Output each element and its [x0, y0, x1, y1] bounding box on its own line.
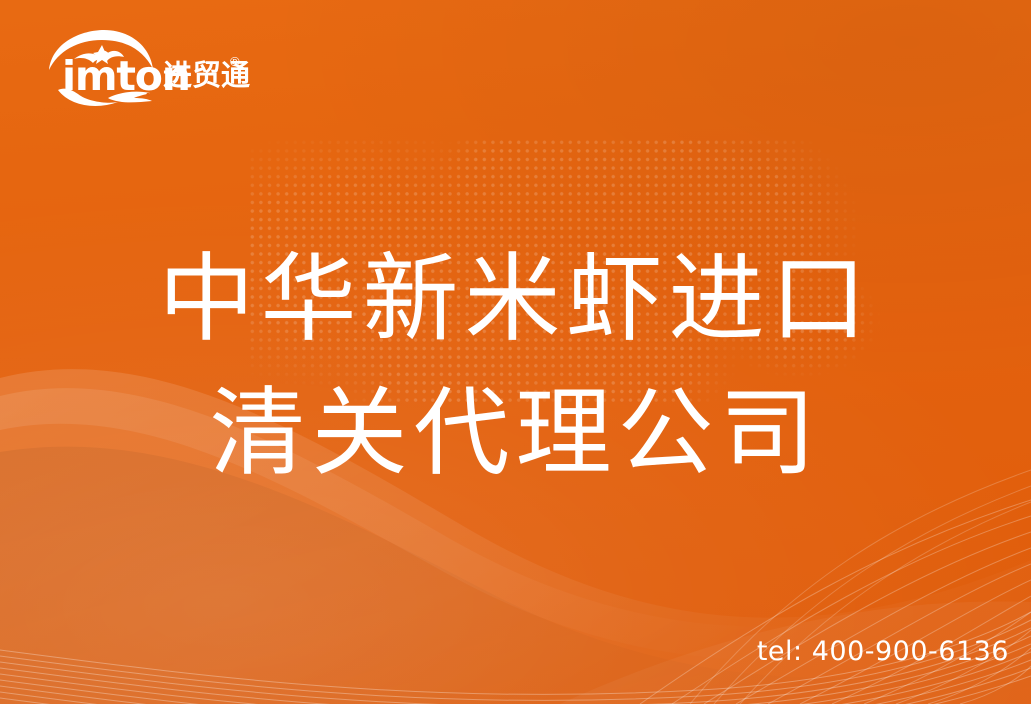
page-title: 中华新米虾进口 清关代理公司 [0, 232, 1031, 500]
headline-line-1: 中华新米虾进口 [0, 232, 1031, 366]
brand-logo[interactable]: imton 进贸通 ® [38, 28, 213, 106]
contact-telephone[interactable]: tel: 400-900-6136 [757, 638, 1009, 665]
registered-trademark-icon: ® [230, 55, 240, 68]
promo-banner: imton 进贸通 ® 中华新米虾进口 清关代理公司 tel: 400-900-… [0, 0, 1031, 704]
headline-line-2: 清关代理公司 [0, 366, 1031, 500]
